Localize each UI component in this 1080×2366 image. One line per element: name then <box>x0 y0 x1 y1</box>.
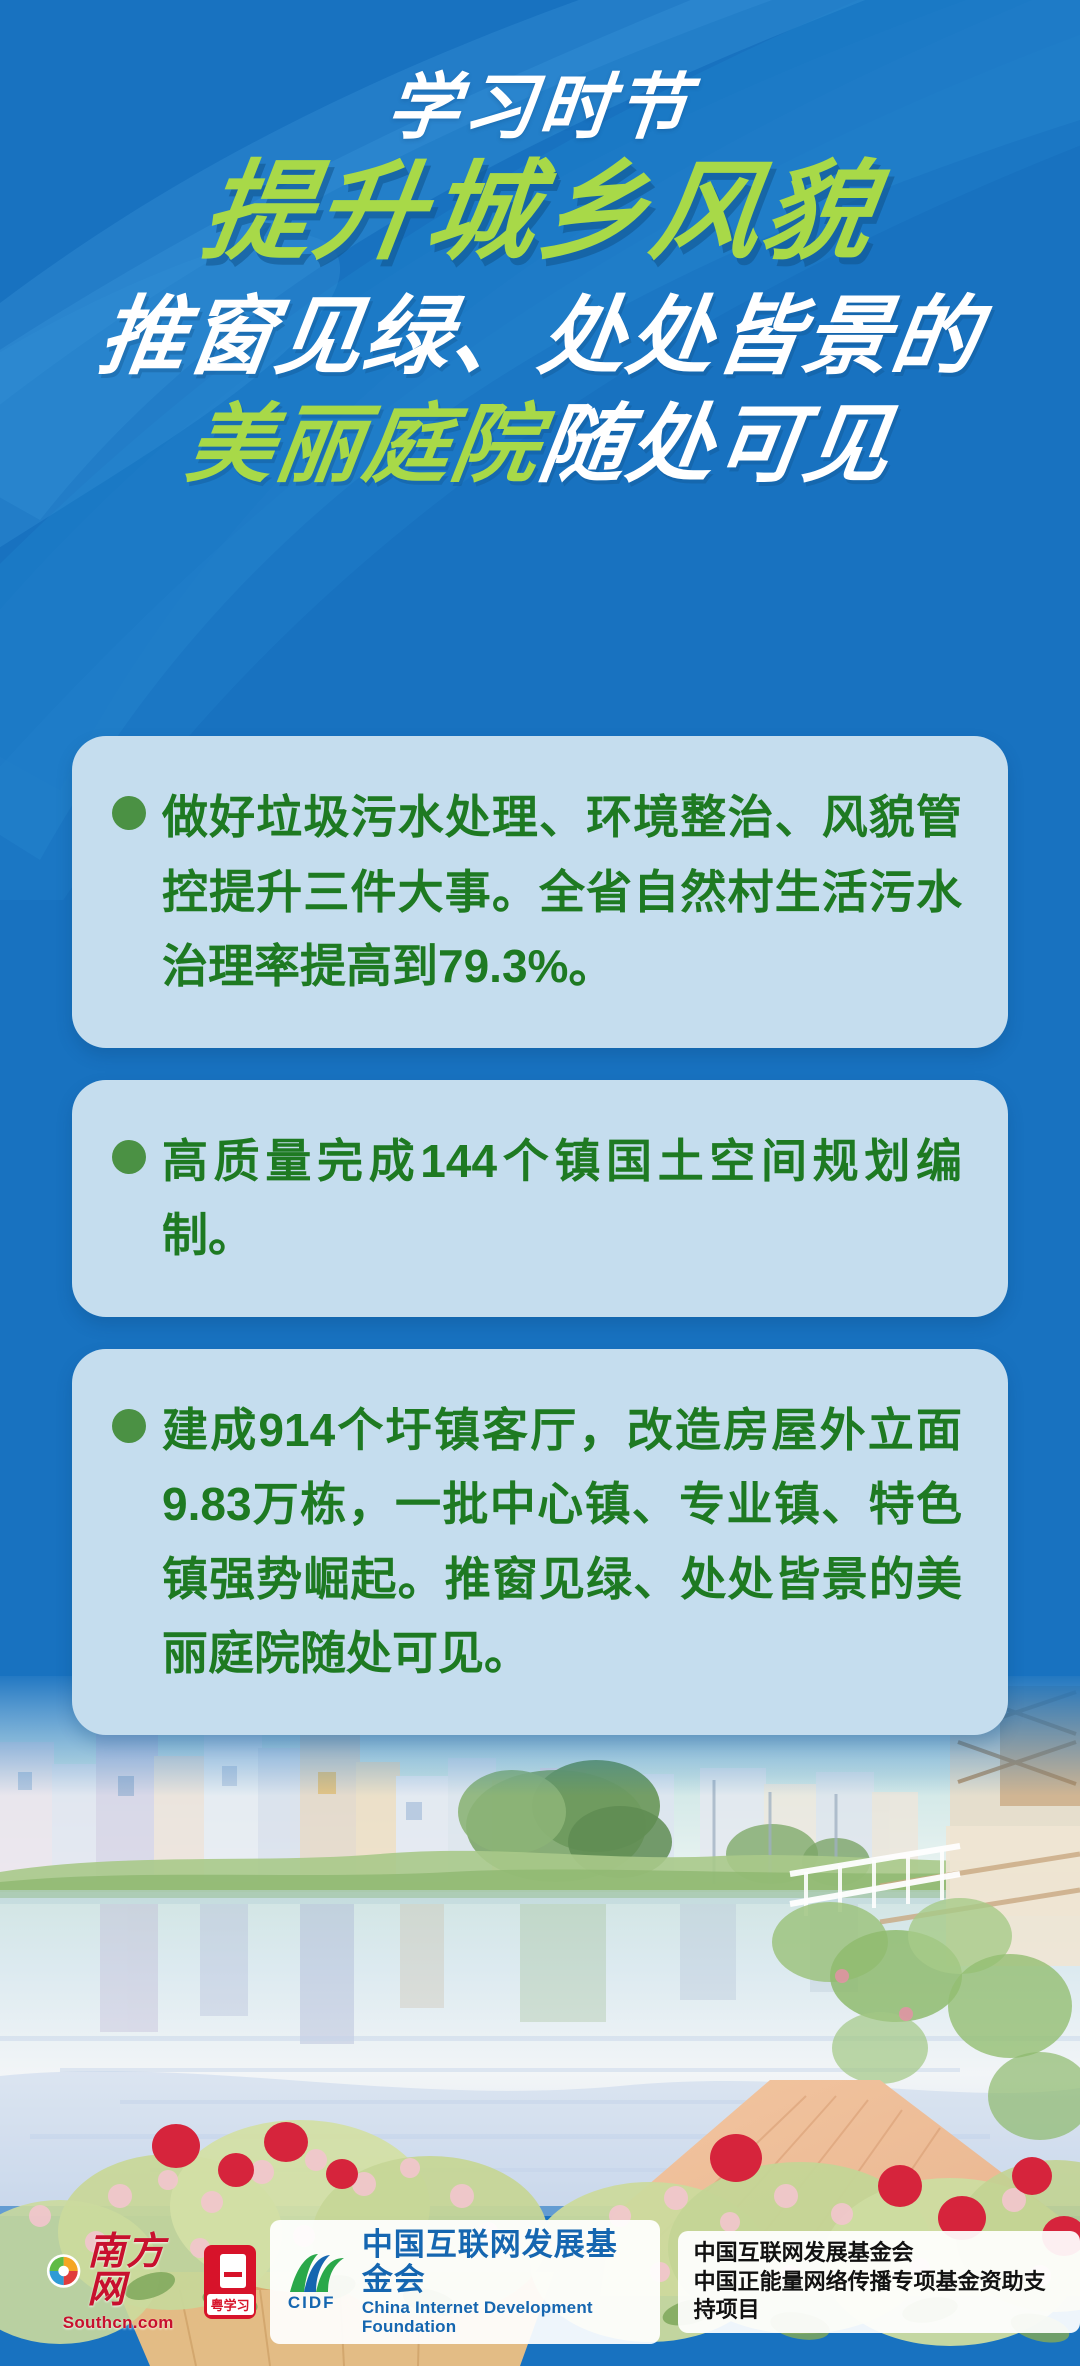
cidf-mark-icon: CIDF <box>284 2252 350 2312</box>
headline-line-2-wrap: 推窗见绿、处处皆景的 <box>0 266 1080 382</box>
headline-line-3-rest: 随处可见 <box>533 397 898 493</box>
headline-line-3-wrap: 美丽庭院随处可见 <box>0 382 1080 490</box>
headline-line-1: 提升城乡风貌 <box>196 158 883 266</box>
funding-notice-line-2: 中国正能量网络传播专项基金资助支持项目 <box>694 2268 1064 2325</box>
bullet-dot-icon <box>112 796 146 830</box>
southcn-mark-icon <box>46 2251 81 2291</box>
yuexuexi-logo[interactable]: 粤学习 <box>204 2245 255 2319</box>
southcn-english-name: Southcn.com <box>63 2314 174 2331</box>
headline-line-2: 推窗见绿、处处皆景的 <box>94 292 987 382</box>
bullet-dot-icon <box>112 1409 146 1443</box>
funding-notice: 中国互联网发展基金会 中国正能量网络传播专项基金资助支持项目 <box>678 2231 1080 2333</box>
headline-line-3-highlight: 美丽庭院 <box>181 397 546 493</box>
bullet-card: 建成914个圩镇客厅，改造房屋外立面9.83万栋，一批中心镇、专业镇、特色镇强势… <box>72 1349 1008 1735</box>
bullet-dot-icon <box>112 1140 146 1174</box>
bullet-card-text: 做好垃圾污水处理、环境整治、风貌管控提升三件大事。全省自然村生活污水治理率提高到… <box>162 780 962 1004</box>
cidf-acronym: CIDF <box>288 2293 336 2313</box>
southcn-chinese-name: 南方网 <box>87 2233 190 2309</box>
headline-line-3: 美丽庭院随处可见 <box>182 400 899 490</box>
southcn-logo-row: 南方网 <box>46 2233 190 2309</box>
cidf-chinese-name: 中国互联网发展基金会 <box>362 2227 646 2298</box>
headline-block: 提升城乡风貌 推窗见绿、处处皆景的 美丽庭院随处可见 <box>0 158 1080 491</box>
bullet-card: 高质量完成144个镇国土空间规划编制。 <box>72 1080 1008 1317</box>
bullet-card-text: 高质量完成144个镇国土空间规划编制。 <box>162 1124 962 1273</box>
yuexuexi-label: 粤学习 <box>207 2294 254 2315</box>
yuexuexi-mark-icon <box>220 2254 246 2288</box>
program-logo-text: 学习时节 <box>382 48 697 153</box>
bullet-card: 做好垃圾污水处理、环境整治、风貌管控提升三件大事。全省自然村生活污水治理率提高到… <box>72 736 1008 1048</box>
cidf-english-name: China Internet Development Foundation <box>362 2298 646 2337</box>
program-logo: 学习时节 <box>0 48 1080 153</box>
poster-root: 学习时节 提升城乡风貌 推窗见绿、处处皆景的 美丽庭院随处可见 <box>0 0 1080 2366</box>
bullet-card-text: 建成914个圩镇客厅，改造房屋外立面9.83万栋，一批中心镇、专业镇、特色镇强势… <box>162 1393 962 1691</box>
headline-line-1-wrap: 提升城乡风貌 <box>0 158 1080 266</box>
cidf-logo[interactable]: CIDF 中国互联网发展基金会 China Internet Developme… <box>270 2220 660 2344</box>
footer-logo-bar: 南方网 Southcn.com 粤学习 CIDF 中国互联网发展基金会 Chin… <box>0 2220 1080 2344</box>
southcn-logo[interactable]: 南方网 Southcn.com <box>46 2233 190 2331</box>
cidf-names: 中国互联网发展基金会 China Internet Development Fo… <box>362 2227 646 2337</box>
bullet-card-list: 做好垃圾污水处理、环境整治、风貌管控提升三件大事。全省自然村生活污水治理率提高到… <box>72 736 1008 1767</box>
funding-notice-line-1: 中国互联网发展基金会 <box>694 2239 1064 2268</box>
